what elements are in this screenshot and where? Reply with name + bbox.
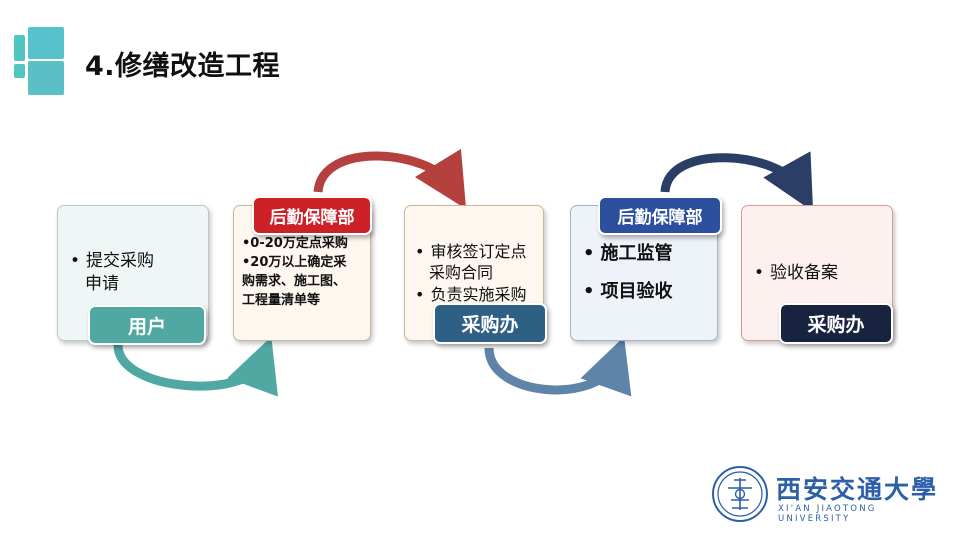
flow-step-1-line-2: 申请	[70, 273, 200, 296]
flow-step-3-text-2: 采购合同	[429, 262, 493, 284]
university-seal-icon	[712, 466, 768, 522]
arrow-steelblue-step3-to-step4	[489, 348, 615, 390]
bullet-icon: •	[754, 262, 764, 285]
flow-step-1-text-1: 提交采购	[86, 250, 154, 273]
flow-step-2-text-3: 购需求、施工图、	[242, 273, 364, 292]
flow-step-4-line-2: • 项目验收	[583, 280, 709, 304]
logo-bar-left-bottom	[14, 64, 25, 78]
flow-step-2-text-1: •0-20万定点采购	[242, 235, 364, 254]
flow-step-1-line-1: • 提交采购	[70, 250, 200, 273]
teal-blocks-logo-icon	[14, 27, 64, 95]
flow-step-3-text-1: 审核签订定点	[430, 241, 526, 263]
flow-step-4-line-1: • 施工监管	[583, 242, 709, 266]
bullet-icon: •	[583, 280, 595, 304]
bullet-icon: •	[70, 250, 80, 273]
bullet-icon: •	[583, 242, 595, 266]
logo-bar-left-top	[14, 35, 25, 61]
flow-step-5-text-1: 验收备案	[770, 262, 838, 285]
logo-bar-right-bottom	[28, 61, 64, 95]
university-name: 西安交通大學	[776, 470, 938, 506]
tag-step-2-logistics[interactable]: 后勤保障部	[252, 196, 372, 235]
flow-step-5-line-1: • 验收备案	[754, 262, 884, 285]
flow-step-4-text-1: 施工监管	[601, 242, 673, 266]
bullet-icon: •	[415, 241, 424, 263]
arrow-red-step2-to-step3	[318, 156, 452, 192]
flow-step-4-text-2: 项目验收	[601, 280, 673, 304]
tag-step-5-purchase-office[interactable]: 采购办	[779, 303, 893, 344]
slide-root: 4.修缮改造工程 • 提	[0, 0, 960, 540]
tag-step-4-logistics[interactable]: 后勤保障部	[598, 196, 722, 235]
university-branding: 西安交通大學 XI'AN JIAOTONG UNIVERSITY	[712, 464, 942, 526]
arrow-teal-step1-to-step2	[118, 345, 262, 386]
flow-step-2-text-2: •20万以上确定采	[242, 254, 364, 273]
tag-step-1-user[interactable]: 用户	[88, 305, 206, 345]
flow-step-3-line-1: • 审核签订定点	[415, 241, 537, 263]
bullet-icon: •	[415, 284, 424, 306]
tag-step-3-purchase-office[interactable]: 采购办	[433, 303, 547, 344]
university-name-en: XI'AN JIAOTONG UNIVERSITY	[778, 504, 942, 524]
logo-bar-right-top	[28, 27, 64, 59]
arrow-navy-step4-to-step5	[665, 158, 800, 192]
flow-step-3-line-2: 采购合同	[415, 262, 537, 284]
flow-step-1-text-2: 申请	[85, 273, 119, 296]
page-title: 4.修缮改造工程	[85, 44, 280, 83]
flow-step-2-text-4: 工程量清单等	[242, 292, 364, 311]
